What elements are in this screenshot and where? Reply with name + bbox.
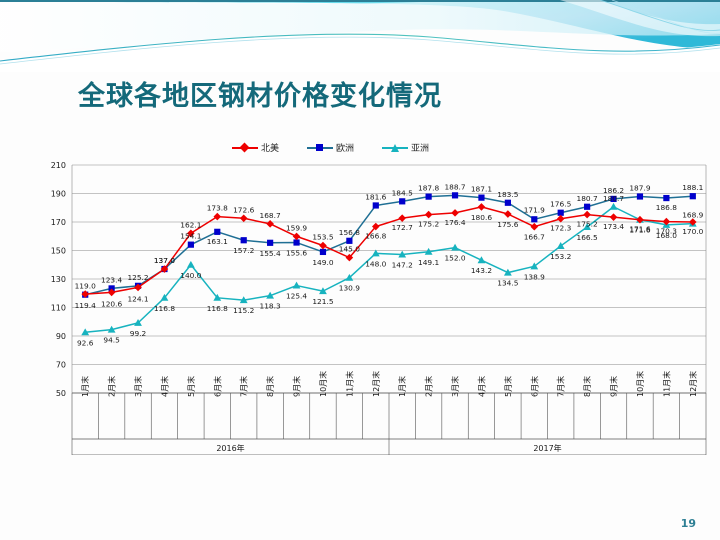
data-label-asia: 168.0	[656, 231, 677, 240]
x-tick-label: 8月末	[265, 376, 275, 397]
data-point-marker	[530, 223, 538, 231]
data-label-europe: 123.4	[101, 275, 122, 284]
x-tick-label: 11月末	[344, 371, 354, 397]
data-point-marker	[293, 282, 301, 289]
data-point-marker	[663, 195, 669, 201]
data-point-marker	[214, 229, 220, 235]
data-point-marker	[293, 233, 301, 241]
y-tick-label: 210	[51, 161, 66, 170]
data-label-asia: 138.9	[524, 272, 545, 281]
line-chart: 210190170150130110907050 119.4120.6124.1…	[0, 155, 720, 455]
data-point-marker	[451, 244, 459, 251]
data-label-north-america: 175.6	[497, 220, 518, 229]
x-tick-label: 2月末	[107, 376, 117, 397]
x-tick-label: 9月末	[292, 376, 302, 397]
data-label-asia: 143.2	[471, 266, 492, 275]
chart-y-axis-labels: 210190170150130110907050	[51, 161, 66, 398]
page-number: 19	[681, 517, 696, 530]
y-tick-label: 150	[51, 247, 66, 256]
data-label-asia: 153.2	[550, 252, 571, 261]
x-tick-label: 5月末	[186, 376, 196, 397]
data-label-north-america: 153.5	[312, 233, 333, 242]
data-label-north-america: 173.4	[603, 222, 624, 231]
data-point-marker	[478, 256, 486, 263]
data-label-europe: 188.7	[444, 182, 465, 191]
data-label-north-america: 166.7	[524, 233, 545, 242]
data-label-north-america: 170.0	[682, 227, 703, 236]
data-label-north-america: 172.3	[550, 224, 571, 233]
data-label-asia: 130.9	[339, 284, 360, 293]
data-label-asia: 171.6	[629, 226, 650, 235]
header-wave-decoration	[0, 0, 720, 72]
data-point-marker	[266, 220, 274, 228]
x-tick-label: 3月末	[133, 376, 143, 397]
x-tick-label: 7月末	[239, 376, 249, 397]
data-label-asia: 92.6	[77, 338, 94, 347]
data-label-europe: 154.1	[180, 232, 201, 241]
data-label-asia: 180.7	[603, 194, 624, 203]
data-label-north-america: 175.2	[418, 220, 439, 229]
legend-label-asia: 亚洲	[411, 141, 429, 154]
data-label-asia: 166.5	[577, 233, 598, 242]
series-line-欧洲	[85, 195, 693, 294]
data-point-marker	[267, 240, 273, 246]
data-point-marker	[558, 210, 564, 216]
data-label-europe: 171.9	[524, 205, 545, 214]
data-label-asia: 152.0	[444, 254, 465, 263]
data-label-europe: 181.6	[365, 192, 386, 201]
data-point-marker	[478, 195, 484, 201]
x-tick-label: 10月末	[635, 371, 645, 397]
chart-x-axis: 1月末2月末3月末4月末5月末6月末7月末8月末9月末10月末11月末12月末1…	[72, 371, 706, 455]
data-label-europe: 119.0	[75, 282, 96, 291]
data-label-asia: 140.0	[180, 271, 201, 280]
data-label-asia: 118.3	[260, 302, 281, 311]
chart-data-labels: 119.4120.6124.1137.0162.1173.8172.6168.7…	[75, 182, 704, 347]
data-label-asia: 147.2	[392, 260, 413, 269]
data-point-marker	[320, 249, 326, 255]
x-tick-label: 1月末	[397, 376, 407, 397]
data-label-europe: 137.0	[154, 256, 175, 265]
y-tick-label: 70	[56, 361, 66, 370]
data-label-north-america: 175.2	[577, 220, 598, 229]
data-point-marker	[319, 242, 327, 250]
x-tick-label: 8月末	[582, 376, 592, 397]
series-line-亚洲	[85, 207, 693, 333]
data-point-marker	[637, 193, 643, 199]
data-label-asia: 134.5	[497, 279, 518, 288]
data-point-marker	[690, 193, 696, 199]
x-tick-label: 12月末	[688, 371, 698, 397]
data-point-marker	[187, 261, 195, 268]
x-tick-label: 5月末	[503, 376, 513, 397]
data-label-europe: 184.5	[392, 188, 413, 197]
data-label-asia: 121.5	[312, 297, 333, 306]
data-point-marker	[478, 203, 486, 211]
data-point-marker	[610, 213, 618, 221]
data-point-marker	[451, 209, 459, 217]
data-point-marker	[373, 202, 379, 208]
data-label-europe: 155.4	[260, 249, 281, 258]
data-label-asia: 116.8	[207, 304, 228, 313]
x-tick-label: 12月末	[371, 371, 381, 397]
y-tick-label: 130	[51, 275, 66, 284]
data-point-marker	[398, 214, 406, 222]
x-tick-label: 10月末	[318, 371, 328, 397]
data-label-europe: 187.1	[471, 185, 492, 194]
legend-label-north-america: 北美	[261, 141, 279, 154]
data-label-europe: 125.2	[127, 273, 148, 282]
data-point-marker	[293, 239, 299, 245]
x-tick-label: 3月末	[450, 376, 460, 397]
data-point-marker	[504, 210, 512, 218]
y-tick-label: 190	[51, 190, 66, 199]
chart-legend: 北美 欧洲 亚洲	[232, 141, 429, 154]
data-label-europe: 187.8	[418, 184, 439, 193]
x-tick-label: 11月末	[661, 371, 671, 397]
data-label-north-america: 172.7	[392, 223, 413, 232]
data-label-europe: 188.1	[682, 183, 703, 192]
data-label-asia: 168.9	[682, 211, 703, 220]
data-label-europe: 157.2	[233, 246, 254, 255]
data-label-europe: 186.8	[656, 203, 677, 212]
x-group-label: 2017年	[533, 443, 561, 453]
y-tick-label: 170	[51, 218, 66, 227]
data-label-north-america: 124.1	[127, 294, 148, 303]
legend-swatch-diamond-icon	[232, 143, 258, 153]
data-label-north-america: 176.4	[444, 218, 465, 227]
data-label-europe: 155.6	[286, 249, 307, 258]
data-point-marker	[240, 214, 248, 222]
data-label-europe: 156.8	[339, 228, 360, 237]
data-point-marker	[399, 198, 405, 204]
x-tick-label: 6月末	[212, 376, 222, 397]
x-tick-label: 6月末	[529, 376, 539, 397]
data-point-marker	[241, 237, 247, 243]
data-point-marker	[583, 211, 591, 219]
data-label-north-america: 145.0	[339, 245, 360, 254]
data-label-north-america: 173.8	[207, 204, 228, 213]
data-label-asia: 116.8	[154, 304, 175, 313]
data-point-marker	[610, 203, 618, 210]
data-label-europe: 176.5	[550, 200, 571, 209]
data-label-europe: 187.9	[629, 183, 650, 192]
data-label-asia: 115.2	[233, 306, 254, 315]
data-label-north-america: 159.9	[286, 223, 307, 232]
data-label-north-america: 120.6	[101, 299, 122, 308]
data-point-marker	[452, 192, 458, 198]
x-tick-label: 4月末	[159, 376, 169, 397]
data-label-asia: 148.0	[365, 259, 386, 268]
data-point-marker	[505, 200, 511, 206]
data-point-marker	[426, 194, 432, 200]
data-point-marker	[213, 213, 221, 221]
data-label-north-america: 180.6	[471, 213, 492, 222]
x-tick-label: 2月末	[424, 376, 434, 397]
legend-label-europe: 欧洲	[336, 141, 354, 154]
slide-canvas: 全球各地区钢材价格变化情况 北美 欧洲 亚洲	[0, 0, 720, 540]
data-label-asia: 94.5	[103, 336, 120, 345]
data-point-marker	[188, 242, 194, 248]
data-label-north-america: 168.7	[260, 211, 281, 220]
x-tick-label: 1月末	[80, 376, 90, 397]
data-label-europe: 149.0	[312, 258, 333, 267]
data-point-marker	[531, 216, 537, 222]
data-label-europe: 180.7	[577, 194, 598, 203]
data-point-marker	[557, 215, 565, 223]
data-label-europe: 163.1	[207, 237, 228, 246]
data-point-marker	[346, 238, 352, 244]
legend-swatch-square-icon	[307, 143, 333, 153]
x-group-label: 2016年	[216, 443, 244, 453]
y-tick-label: 50	[56, 389, 66, 398]
slide-title: 全球各地区钢材价格变化情况	[78, 74, 442, 113]
x-tick-label: 4月末	[476, 376, 486, 397]
x-tick-label: 7月末	[556, 376, 566, 397]
data-label-north-america: 166.8	[365, 232, 386, 241]
data-label-asia: 149.1	[418, 258, 439, 267]
data-label-europe: 183.5	[497, 190, 518, 199]
data-point-marker	[425, 211, 433, 219]
data-label-north-america: 172.6	[233, 205, 254, 214]
legend-item-europe[interactable]: 欧洲	[307, 141, 354, 154]
data-label-asia: 99.2	[130, 329, 146, 338]
y-tick-label: 110	[51, 304, 66, 313]
data-point-marker	[584, 204, 590, 210]
x-tick-label: 9月末	[609, 376, 619, 397]
data-label-north-america: 162.1	[180, 220, 201, 229]
data-label-asia: 125.4	[286, 292, 307, 301]
legend-swatch-triangle-icon	[382, 143, 408, 153]
data-label-north-america: 119.4	[75, 301, 96, 310]
legend-item-north-america[interactable]: 北美	[232, 141, 279, 154]
legend-item-asia[interactable]: 亚洲	[382, 141, 429, 154]
y-tick-label: 90	[56, 332, 66, 341]
